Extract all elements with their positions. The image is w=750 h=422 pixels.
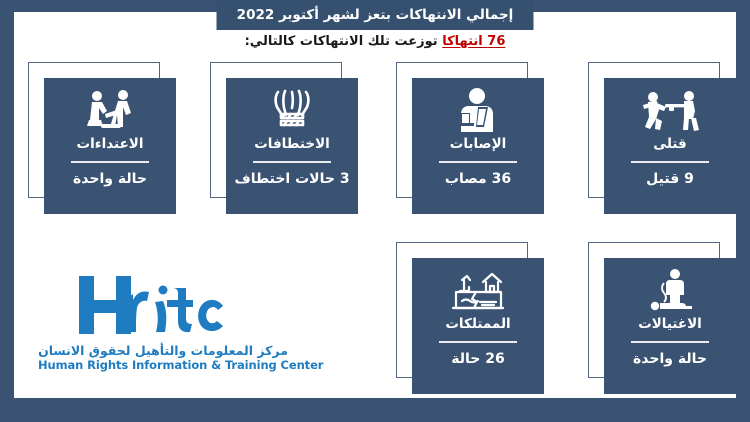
stat-card-assaults[interactable]: الاعتداءات حالة واحدة [28, 62, 176, 214]
stat-card-injuries[interactable]: الإصابات 36 مصاب [396, 62, 544, 214]
bound-hands-icon [269, 87, 315, 133]
stat-card-properties[interactable]: الممتلكات 26 حالة [396, 242, 544, 394]
standing-over-body-icon [642, 267, 698, 313]
card-value: حالة واحدة [73, 171, 147, 187]
card-divider [253, 161, 331, 163]
card-label: الإصابات [450, 136, 507, 152]
card-label: قتلى [653, 136, 687, 152]
card-value: 9 قتيل [646, 171, 694, 187]
page-title: إجمالي الانتهاكات بتعز لشهر أكتوبر 2022 [237, 7, 514, 23]
card-divider [71, 161, 149, 163]
subtitle-line: 76 انتهاكا توزعت تلك الانتهاكات كالتالي: [14, 34, 736, 49]
violations-count-highlight: 76 انتهاكا [442, 34, 505, 49]
card-panel: الاختطافات 3 حالات اختطاف [226, 78, 358, 214]
damaged-house-icon [450, 267, 506, 313]
card-value: 26 حالة [451, 351, 504, 367]
card-divider [631, 341, 709, 343]
card-panel: الاغتيالات حالة واحدة [604, 258, 736, 394]
card-label: الاعتداءات [77, 136, 144, 152]
card-value: حالة واحدة [633, 351, 707, 367]
card-panel: الإصابات 36 مصاب [412, 78, 544, 214]
hritc-wordmark-icon [38, 270, 288, 342]
injured-person-icon [456, 87, 500, 133]
stat-card-abductions[interactable]: الاختطافات 3 حالات اختطاف [210, 62, 358, 214]
card-divider [631, 161, 709, 163]
card-panel: قتلى 9 قتيل [604, 78, 736, 214]
card-panel: الممتلكات 26 حالة [412, 258, 544, 394]
card-value: 3 حالات اختطاف [234, 171, 349, 187]
logo-arabic-name: مركز المعلومات والتأهيل لحقوق الانسان [38, 343, 288, 358]
card-divider [439, 341, 517, 343]
shooting-icon [639, 87, 701, 133]
infographic-frame: إجمالي الانتهاكات بتعز لشهر أكتوبر 2022 … [14, 12, 736, 398]
stat-card-killed[interactable]: قتلى 9 قتيل [588, 62, 736, 214]
card-divider [439, 161, 517, 163]
card-panel: الاعتداءات حالة واحدة [44, 78, 176, 214]
header-bar: إجمالي الانتهاكات بتعز لشهر أكتوبر 2022 [217, 0, 534, 30]
logo-english-name: Human Rights Information & Training Cent… [38, 358, 288, 372]
assault-icon [81, 87, 139, 133]
card-label: الممتلكات [445, 316, 510, 332]
stat-card-assassinations[interactable]: الاغتيالات حالة واحدة [588, 242, 736, 394]
subtitle-rest: توزعت تلك الانتهاكات كالتالي: [245, 34, 443, 49]
organization-logo: مركز المعلومات والتأهيل لحقوق الانسان Hu… [38, 270, 288, 372]
card-value: 36 مصاب [445, 171, 511, 187]
card-label: الاختطافات [254, 136, 330, 152]
card-label: الاغتيالات [638, 316, 702, 332]
